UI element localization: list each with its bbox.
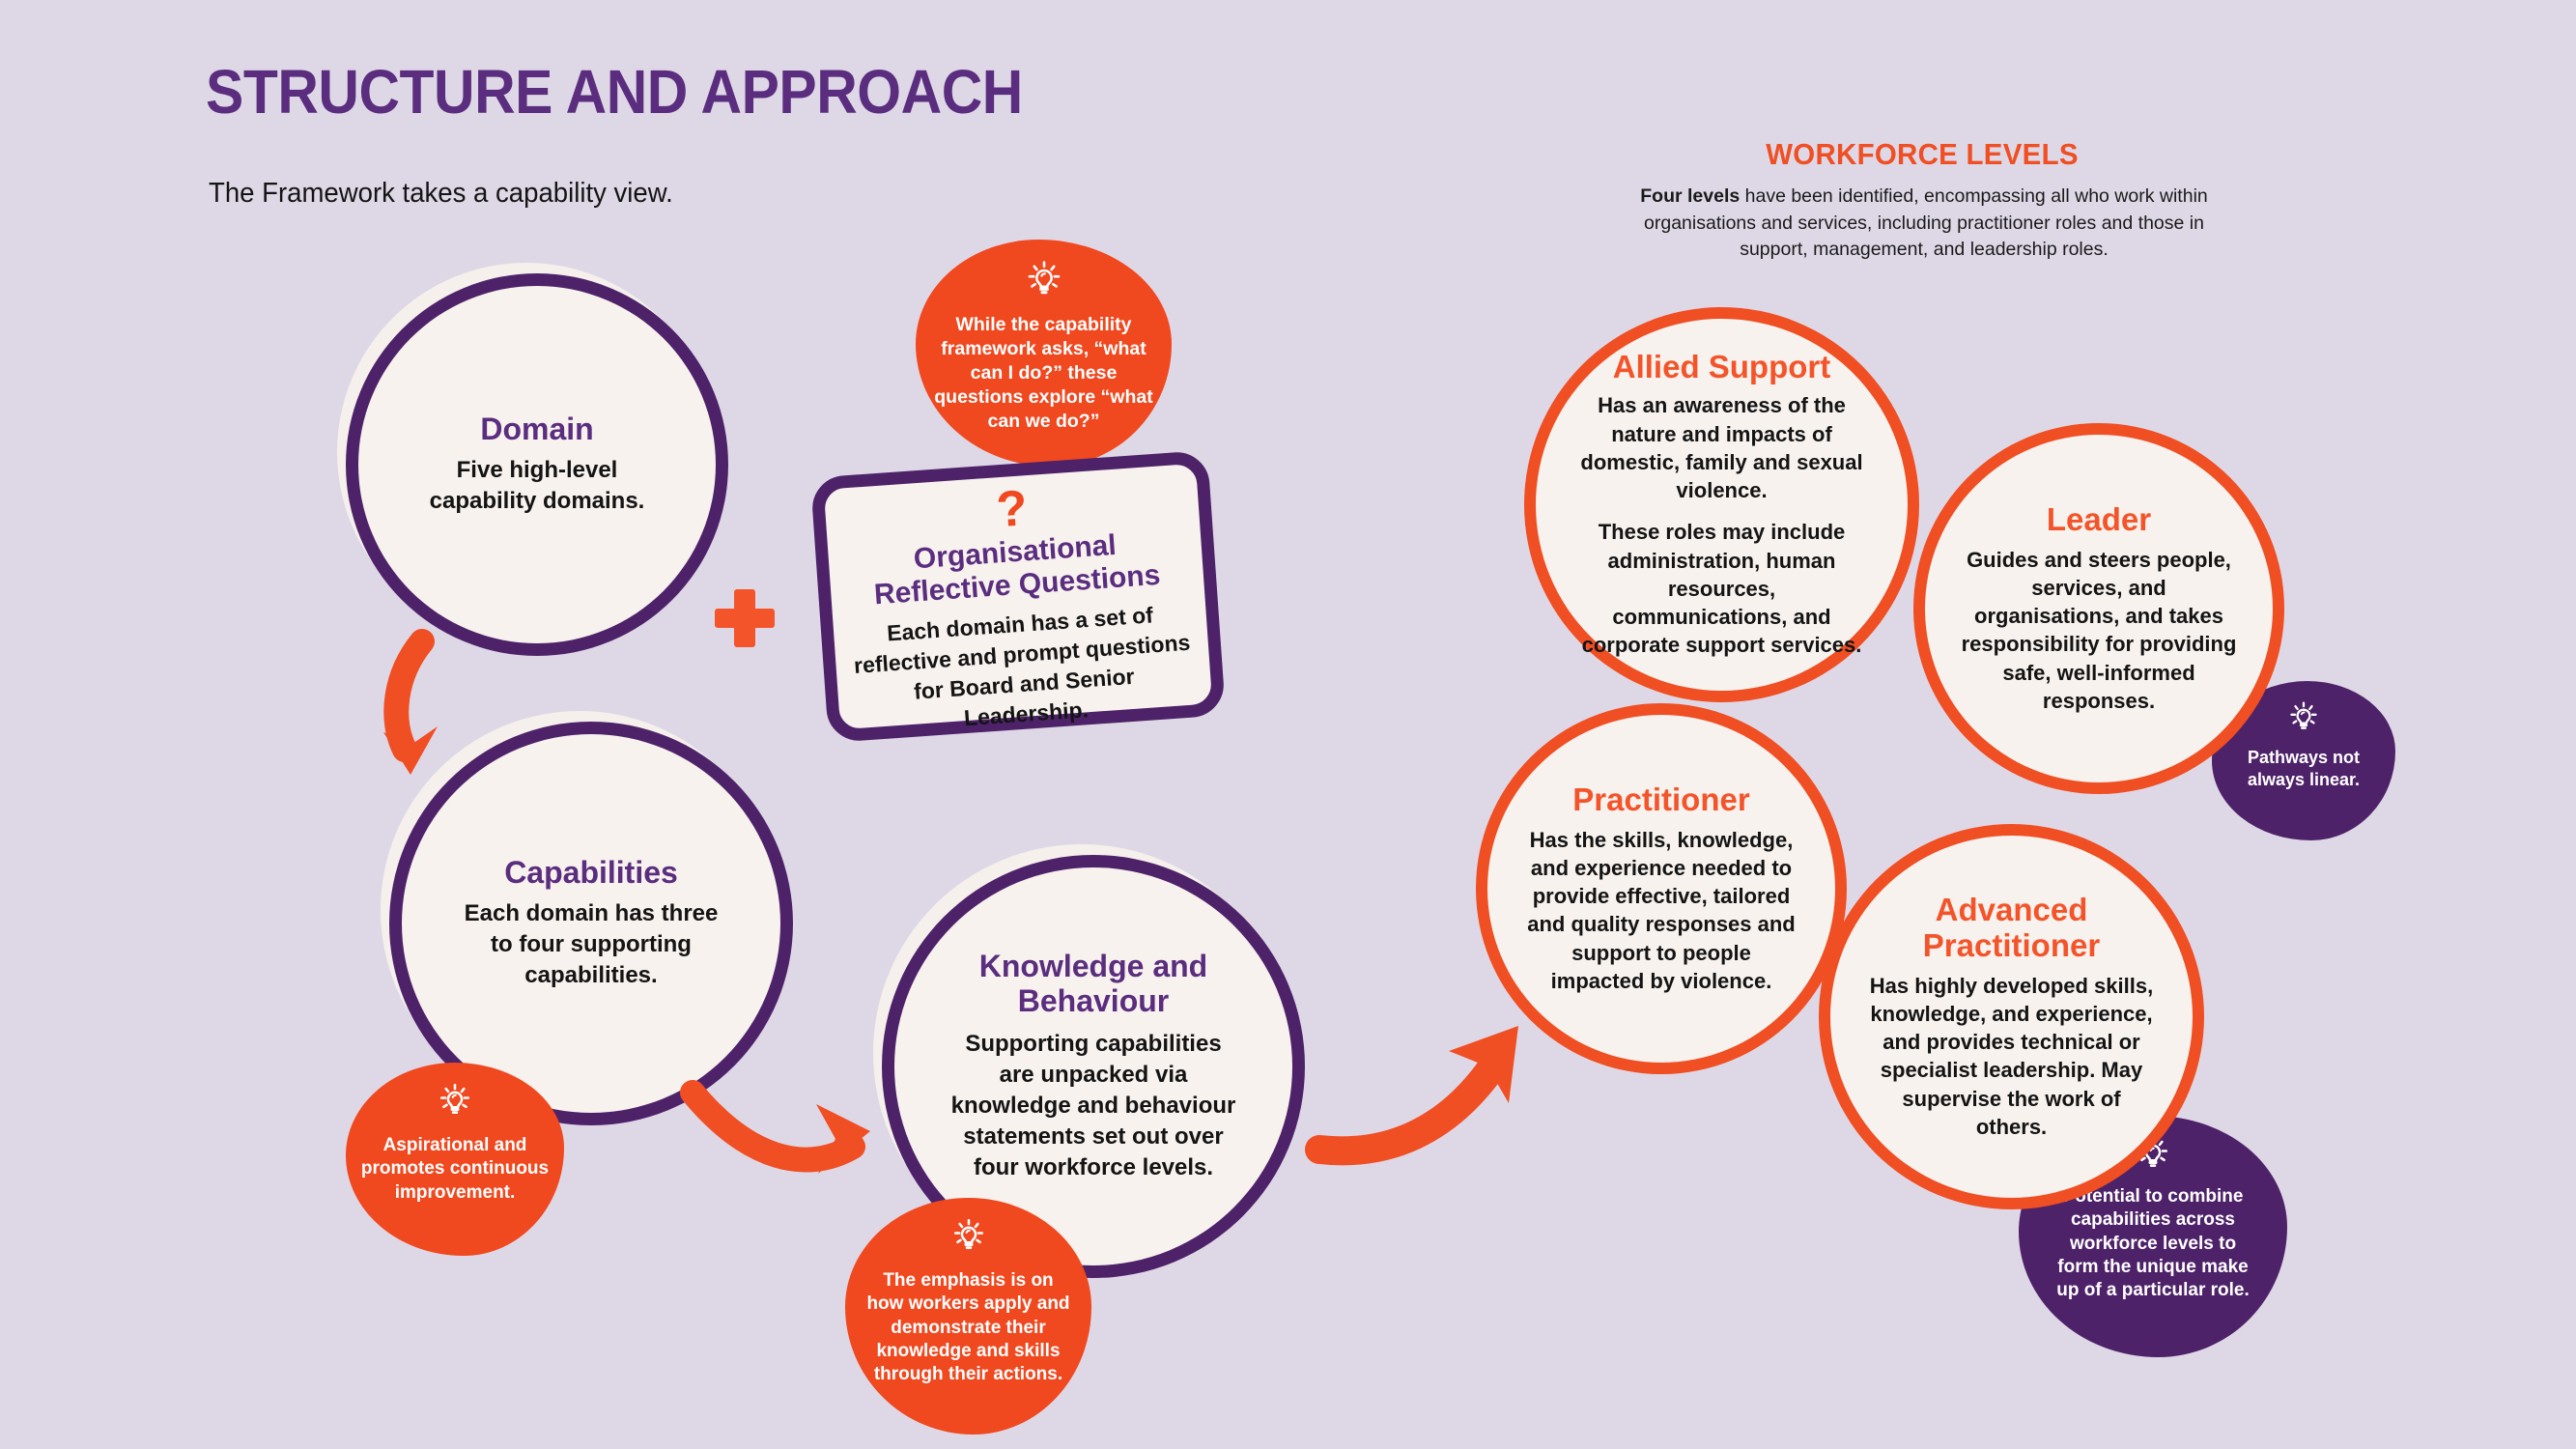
node-practitioner-title: Practitioner bbox=[1572, 782, 1749, 818]
card-organisational-reflective-questions[interactable]: ? Organisational Reflective Questions Ea… bbox=[810, 450, 1226, 743]
callout-what-can-we-do[interactable]: While the capability framework asks, “wh… bbox=[916, 240, 1172, 467]
node-domain[interactable]: Domain Five high-level capability domain… bbox=[358, 286, 716, 643]
workforce-levels-description: Four levels have been identified, encomp… bbox=[1615, 184, 2233, 264]
question-mark-icon: ? bbox=[995, 483, 1029, 535]
workforce-levels-title: WORKFORCE LEVELS bbox=[1730, 137, 2115, 172]
card-body: Each domain has a set of reflective and … bbox=[848, 598, 1199, 741]
callout-aspirational-text: Aspirational and promotes continuous imp… bbox=[359, 1134, 551, 1205]
infographic-canvas: STRUCTURE AND APPROACH The Framework tak… bbox=[0, 0, 2576, 1449]
node-allied-support-body-1: Has an awareness of the nature and impac… bbox=[1572, 391, 1872, 504]
lightbulb-icon bbox=[2284, 698, 2323, 737]
card-title: Organisational Reflective Questions bbox=[855, 526, 1177, 613]
node-knowledge-body: Supporting capabilities are unpacked via… bbox=[948, 1029, 1238, 1183]
lightbulb-icon bbox=[1021, 257, 1067, 303]
node-knowledge-title: Knowledge and Behaviour bbox=[963, 950, 1224, 1019]
workforce-levels-lead: Four levels bbox=[1640, 185, 1740, 207]
page-title: STRUCTURE AND APPROACH bbox=[206, 56, 1023, 128]
callout-what-can-we-do-text: While the capability framework asks, “wh… bbox=[930, 313, 1157, 434]
callout-combine-text: Potential to combine capabilities across… bbox=[2050, 1185, 2257, 1303]
node-allied-support-title: Allied Support bbox=[1613, 350, 1831, 385]
page-subtitle: The Framework takes a capability view. bbox=[209, 178, 673, 210]
callout-emphasis-text: The emphasis is on how workers apply and… bbox=[864, 1269, 1072, 1387]
plus-icon bbox=[712, 585, 778, 651]
node-advanced-practitioner[interactable]: Advanced Practitioner Has highly develop… bbox=[1830, 836, 2193, 1198]
lightbulb-icon bbox=[434, 1080, 476, 1122]
callout-aspirational[interactable]: Aspirational and promotes continuous imp… bbox=[346, 1063, 564, 1256]
node-capabilities[interactable]: Capabilities Each domain has three to fo… bbox=[402, 734, 780, 1113]
node-advanced-practitioner-title: Advanced Practitioner bbox=[1906, 893, 2118, 964]
node-practitioner[interactable]: Practitioner Has the skills, knowledge, … bbox=[1487, 715, 1835, 1063]
node-domain-title: Domain bbox=[480, 412, 593, 447]
node-practitioner-body: Has the skills, knowledge, and experienc… bbox=[1524, 826, 1799, 996]
lightbulb-icon bbox=[948, 1215, 990, 1258]
node-domain-body: Five high-level capability domains. bbox=[414, 455, 661, 517]
node-allied-support-body-2: These roles may include administration, … bbox=[1579, 518, 1864, 659]
node-capabilities-body: Each domain has three to four supporting… bbox=[451, 898, 731, 991]
callout-pathways-text: Pathways not always linear. bbox=[2226, 747, 2381, 791]
node-capabilities-title: Capabilities bbox=[504, 856, 678, 891]
node-leader-body: Guides and steers people, services, and … bbox=[1962, 546, 2237, 716]
callout-emphasis-on-actions[interactable]: The emphasis is on how workers apply and… bbox=[845, 1198, 1091, 1435]
node-leader[interactable]: Leader Guides and steers people, service… bbox=[1925, 435, 2273, 782]
node-leader-title: Leader bbox=[2047, 502, 2151, 538]
arrow-knowledge-to-workforce bbox=[1302, 995, 1592, 1207]
node-advanced-practitioner-body: Has highly developed skills, knowledge, … bbox=[1867, 972, 2157, 1142]
node-allied-support[interactable]: Allied Support Has an awareness of the n… bbox=[1536, 319, 1908, 691]
